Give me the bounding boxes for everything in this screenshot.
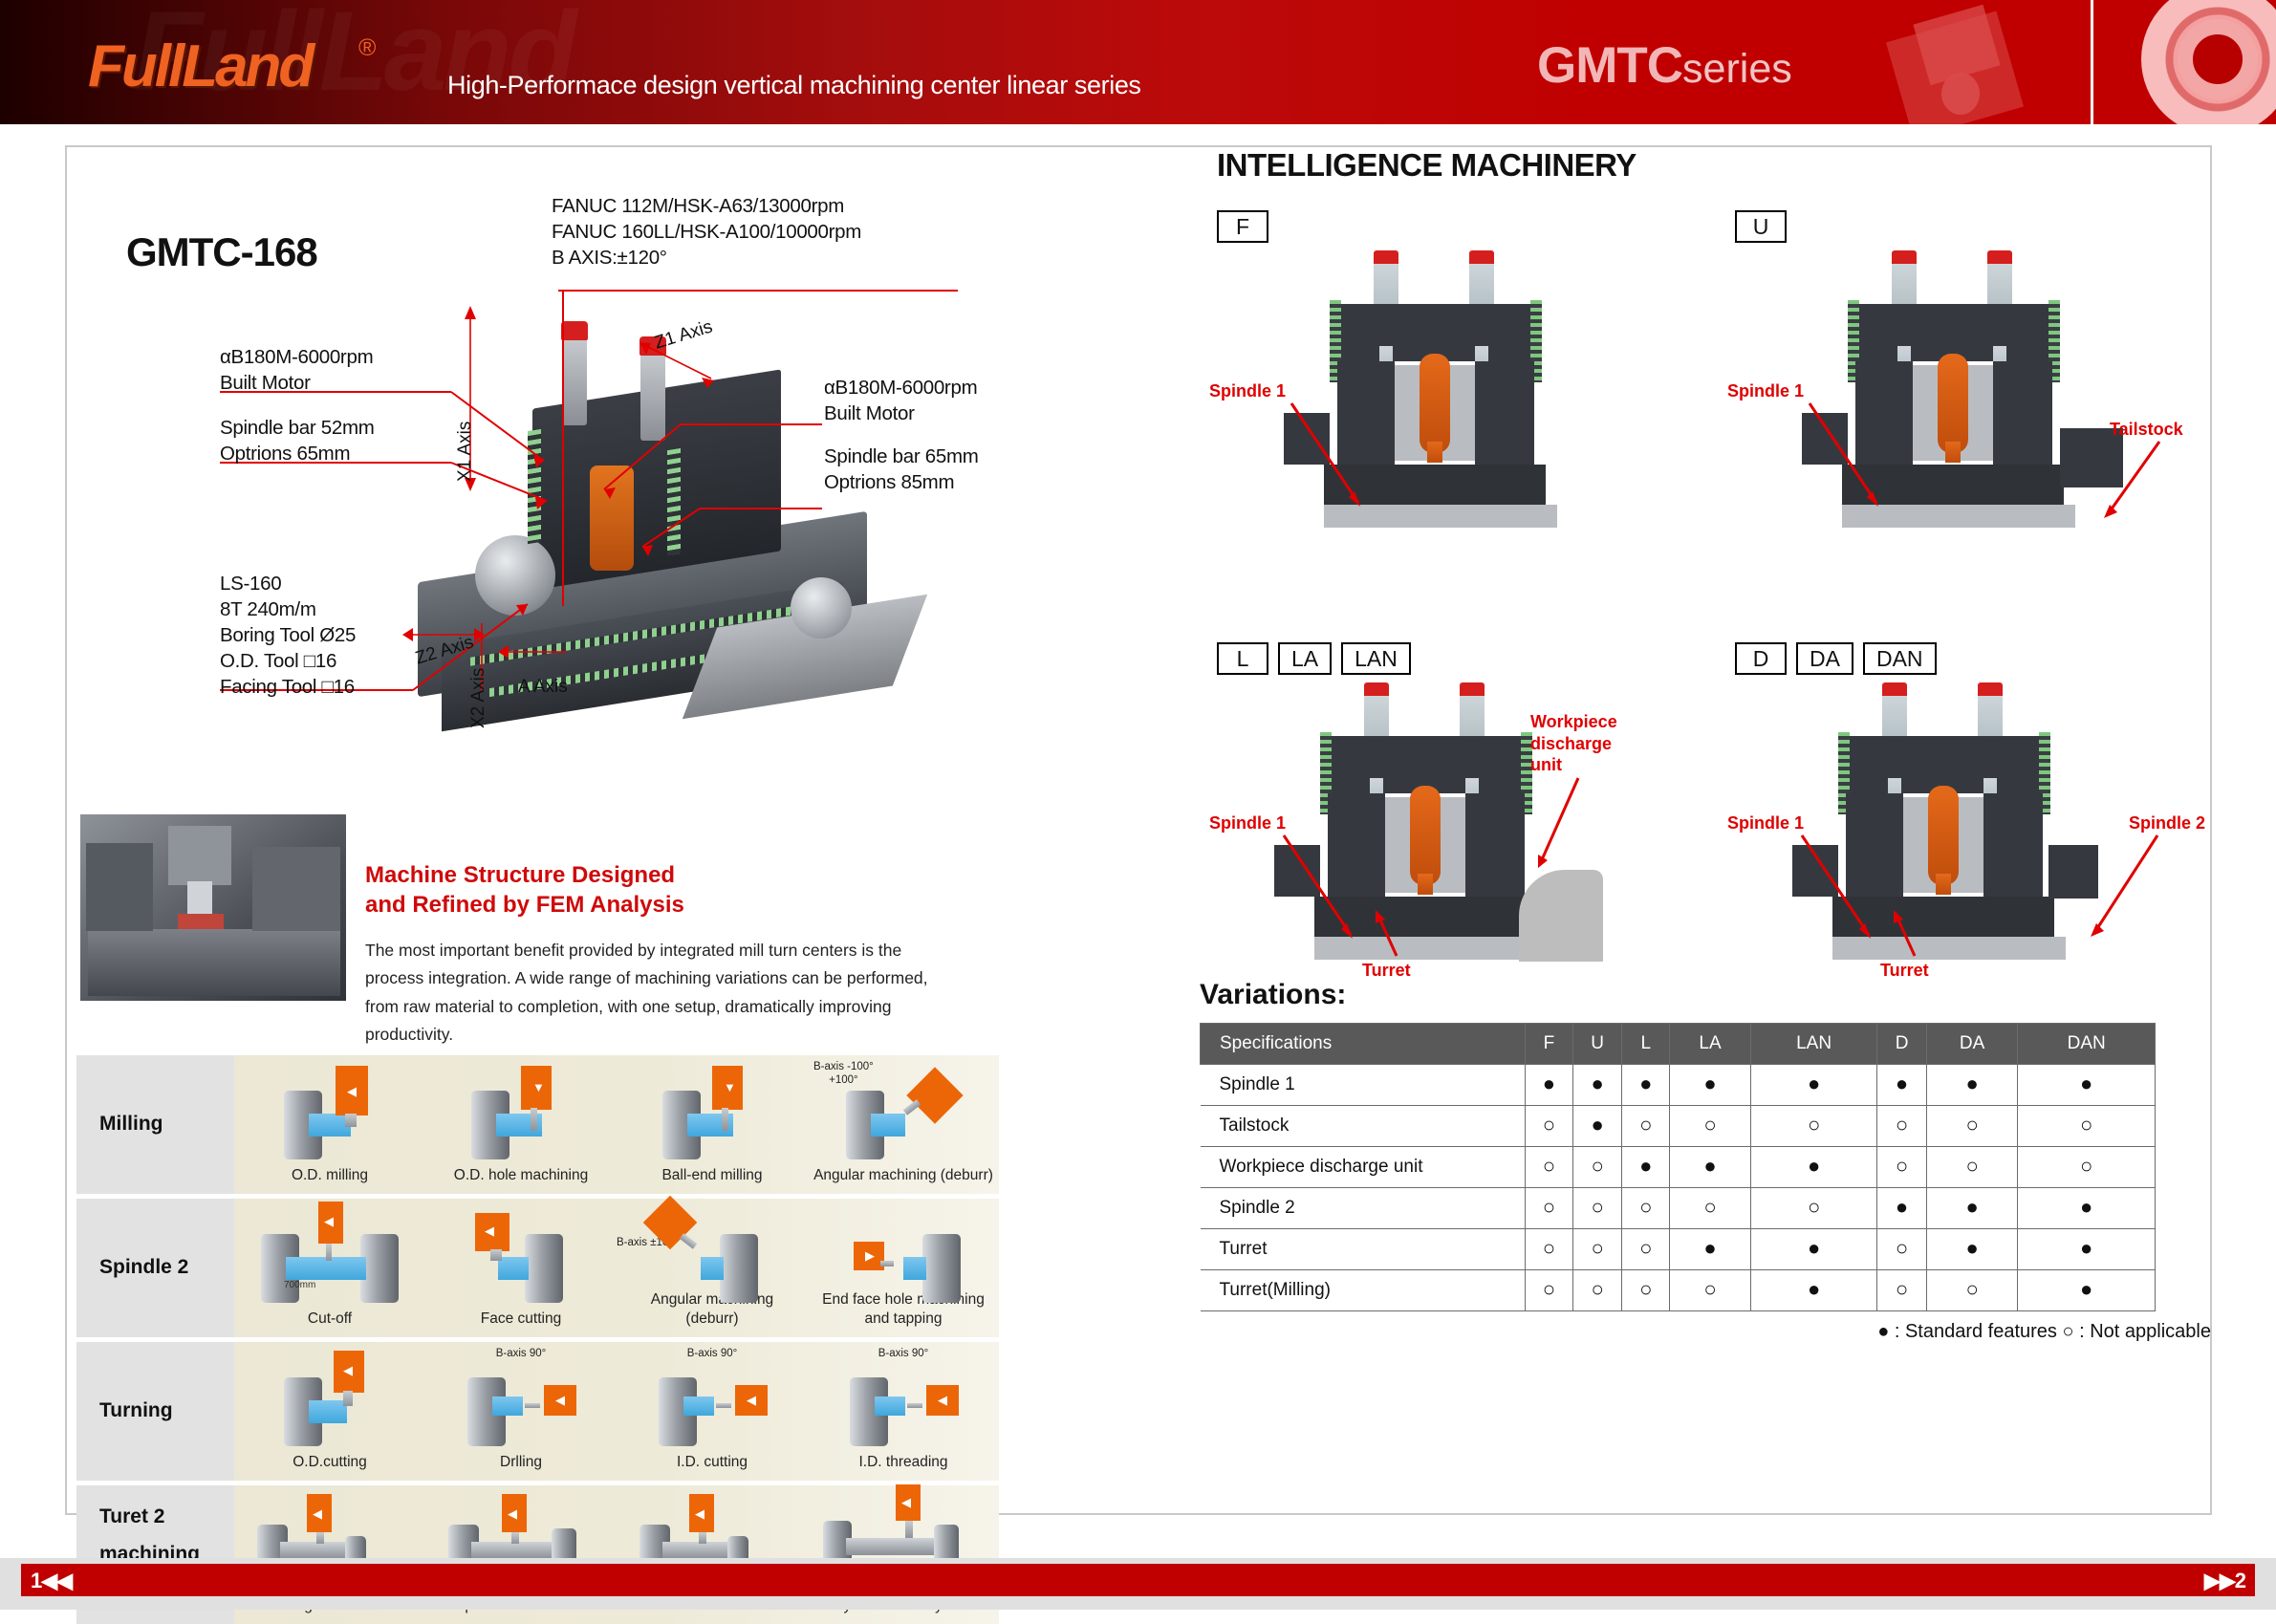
column-header-d: D	[1877, 1024, 1926, 1065]
ops-cell-caption: Ball-end milling	[661, 1166, 762, 1185]
config-label-spindle1: Spindle 1	[1727, 812, 1804, 834]
page-title: GMTC-168	[126, 229, 317, 275]
variations-table: Specifications F U L LA LAN D DA DAN Spi…	[1200, 1023, 2156, 1311]
cell-not-applicable: ○	[1877, 1147, 1926, 1188]
config-tag[interactable]: D	[1735, 642, 1787, 675]
cell-not-applicable: ○	[1877, 1106, 1926, 1147]
ops-cell: B-axis 90° ◀ Drlling	[425, 1342, 617, 1481]
cell-standard-feature: ●	[2018, 1229, 2156, 1270]
ops-cell: B-axis 90° ◀ I.D. threading	[808, 1342, 999, 1481]
config-label-spindle1: Spindle 1	[1209, 380, 1286, 402]
cell-standard-feature: ●	[2018, 1065, 2156, 1106]
cell-standard-feature: ●	[1750, 1147, 1877, 1188]
table-row: Spindle 1●●●●●●●●	[1201, 1065, 2156, 1106]
page-number-next[interactable]: ▶▶2	[2204, 1569, 2245, 1593]
ops-cell-caption: Drlling	[500, 1453, 542, 1472]
open-dot-icon: ○	[1591, 1236, 1603, 1260]
ops-cell-caption: Cut-off	[308, 1310, 352, 1329]
open-dot-icon: ○	[2080, 1154, 2092, 1178]
open-dot-icon: ○	[1896, 1277, 1908, 1301]
ops-row-turning: Turning ◀ O.D.cutting	[76, 1337, 999, 1481]
prev-arrows-icon: ◀◀	[41, 1569, 72, 1592]
table-row: Spindle 2○○○○○●●●	[1201, 1188, 2156, 1229]
ops-row-label: Milling	[76, 1055, 234, 1194]
column-header-u: U	[1572, 1024, 1621, 1065]
next-arrows-icon: ▶▶	[2204, 1569, 2235, 1592]
open-dot-icon: ○	[1896, 1113, 1908, 1137]
column-header-f: F	[1526, 1024, 1573, 1065]
ops-illustration-id-threading: ◀	[808, 1364, 999, 1448]
ops-cell-note: B-axis 90°	[496, 1348, 547, 1361]
cell-not-applicable: ○	[1670, 1270, 1751, 1311]
filled-dot-icon: ●	[1703, 1154, 1716, 1178]
config-tags-u: U	[1735, 210, 1787, 243]
cell-not-applicable: ○	[1572, 1147, 1621, 1188]
open-dot-icon: ○	[1703, 1277, 1716, 1301]
cell-standard-feature: ●	[1572, 1065, 1621, 1106]
cell-standard-feature: ●	[1526, 1065, 1573, 1106]
page-number-prev[interactable]: 1◀◀	[31, 1569, 72, 1593]
ops-illustration-angular-deburr	[617, 1221, 808, 1305]
table-header-row: Specifications F U L LA LAN D DA DAN	[1201, 1024, 2156, 1065]
cell-standard-feature: ●	[1926, 1065, 2018, 1106]
axis-label-a: A Axis	[518, 677, 568, 698]
machine-interior-photo	[80, 814, 346, 1001]
table-row: Workpiece discharge unit○○●●●○○○	[1201, 1147, 2156, 1188]
header-machined-part-image	[1888, 0, 2089, 124]
column-header-lan: LAN	[1750, 1024, 1877, 1065]
cell-not-applicable: ○	[1622, 1188, 1670, 1229]
filled-dot-icon: ●	[2080, 1072, 2092, 1095]
registered-trademark-icon: ®	[358, 34, 376, 62]
open-dot-icon: ○	[1639, 1113, 1652, 1137]
right-column: INTELLIGENCE MACHINERY F	[1200, 145, 2213, 1515]
config-diagram-l: Spindle 1 Workpiece discharge unit Turre…	[1209, 682, 1687, 969]
fem-heading: Machine Structure Designed and Refined b…	[365, 860, 684, 920]
row-spec-label: Turret(Milling)	[1201, 1270, 1526, 1311]
cell-not-applicable: ○	[1526, 1147, 1573, 1188]
filled-dot-icon: ●	[2080, 1236, 2092, 1260]
config-diagram-d: Spindle 1 Spindle 2 Turret	[1727, 682, 2205, 969]
cell-not-applicable: ○	[1622, 1270, 1670, 1311]
open-dot-icon: ○	[1543, 1195, 1555, 1219]
cell-not-applicable: ○	[1926, 1147, 2018, 1188]
cell-not-applicable: ○	[1877, 1229, 1926, 1270]
ops-row-spindle2: Spindle 2 ◀ 700mm Cut-off	[76, 1194, 999, 1337]
config-tag[interactable]: LAN	[1341, 642, 1411, 675]
config-label-tailstock: Tailstock	[2110, 419, 2183, 441]
row-spec-label: Spindle 2	[1201, 1188, 1526, 1229]
ops-cell-caption: Angular machining (deburr)	[813, 1166, 993, 1185]
ops-cell: ▼ Ball-end milling	[617, 1055, 808, 1194]
cell-standard-feature: ●	[2018, 1188, 2156, 1229]
open-dot-icon: ○	[1639, 1277, 1652, 1301]
company-logo: FullLand	[88, 32, 312, 100]
filled-dot-icon: ●	[1808, 1154, 1820, 1178]
machining-operations-table: Milling ◀ O.D. milling	[76, 1050, 999, 1624]
cell-not-applicable: ○	[1750, 1106, 1877, 1147]
column-header-dan: DAN	[2018, 1024, 2156, 1065]
callout-right-built-motor: αB180M-6000rpm Built Motor	[824, 375, 977, 426]
filled-dot-icon: ●	[1808, 1277, 1820, 1301]
config-tag[interactable]: F	[1217, 210, 1268, 243]
ops-cell: ◀ O.D. milling	[234, 1055, 425, 1194]
cell-standard-feature: ●	[1926, 1229, 2018, 1270]
config-tag[interactable]: DA	[1796, 642, 1853, 675]
ops-cell: ◀ 700mm Cut-off	[234, 1199, 425, 1337]
page-body: GMTC-168 FANUC 112M/HSK-A63/13000rpm FAN…	[0, 124, 2276, 1558]
ops-cell-note: B-axis 90°	[687, 1348, 738, 1361]
cell-not-applicable: ○	[1572, 1229, 1621, 1270]
ops-illustration-od-milling: ◀	[234, 1077, 425, 1161]
cell-not-applicable: ○	[1926, 1270, 2018, 1311]
open-dot-icon: ○	[2080, 1113, 2092, 1137]
cell-standard-feature: ●	[1750, 1229, 1877, 1270]
cell-not-applicable: ○	[1526, 1270, 1573, 1311]
ops-row-label: Turning	[76, 1342, 234, 1481]
cell-not-applicable: ○	[1926, 1106, 2018, 1147]
cell-not-applicable: ○	[1526, 1188, 1573, 1229]
row-spec-label: Spindle 1	[1201, 1065, 1526, 1106]
filled-dot-icon: ●	[2080, 1277, 2092, 1301]
ops-illustration-cut-off: ◀ 700mm	[234, 1221, 425, 1305]
ops-illustration-od-cutting: ◀	[234, 1364, 425, 1448]
filled-dot-icon: ●	[1965, 1195, 1978, 1219]
table-row: Turret(Milling)○○○○●○○●	[1201, 1270, 2156, 1311]
table-row: Tailstock○●○○○○○○	[1201, 1106, 2156, 1147]
cell-standard-feature: ●	[1750, 1270, 1877, 1311]
cell-not-applicable: ○	[1670, 1188, 1751, 1229]
open-dot-icon: ○	[1543, 1113, 1555, 1137]
open-dot-icon: ○	[1639, 1195, 1652, 1219]
ops-illustration-od-hole-machining: ▼	[425, 1077, 617, 1161]
ops-row-milling: Milling ◀ O.D. milling	[76, 1050, 999, 1194]
ops-illustration-ball-end-milling: ▼	[617, 1077, 808, 1161]
axis-label-x2: X2 Axis	[468, 668, 489, 728]
header-impeller-hub	[2178, 19, 2258, 99]
ops-cell: B-axis -100° +100° Angular machining (de…	[808, 1055, 999, 1194]
ops-cell: ◀ O.D.cutting	[234, 1342, 425, 1481]
header-tagline: High-Performace design vertical machinin…	[447, 71, 1141, 100]
open-dot-icon: ○	[1703, 1113, 1716, 1137]
ops-illustration-angular-machining	[808, 1077, 999, 1161]
cell-standard-feature: ●	[1572, 1106, 1621, 1147]
cell-not-applicable: ○	[2018, 1106, 2156, 1147]
config-tags-d: D DA DAN	[1735, 642, 1937, 675]
filled-dot-icon: ●	[1703, 1072, 1716, 1095]
config-tag[interactable]: LA	[1278, 642, 1332, 675]
config-label-turret: Turret	[1362, 960, 1411, 982]
open-dot-icon: ○	[1703, 1195, 1716, 1219]
cell-standard-feature: ●	[1877, 1065, 1926, 1106]
series-badge: GMTCseries	[1537, 36, 1792, 95]
cell-not-applicable: ○	[1526, 1106, 1573, 1147]
ops-cell-note: B-axis 90°	[878, 1348, 929, 1361]
filled-dot-icon: ●	[1703, 1236, 1716, 1260]
variations-title: Variations:	[1200, 979, 1346, 1011]
open-dot-icon: ○	[1543, 1236, 1555, 1260]
filled-dot-icon: ●	[1965, 1072, 1978, 1095]
page-number-right-label: 2	[2235, 1569, 2245, 1592]
cell-not-applicable: ○	[1670, 1106, 1751, 1147]
cell-standard-feature: ●	[2018, 1270, 2156, 1311]
open-dot-icon: ○	[1543, 1154, 1555, 1178]
filled-dot-icon: ●	[1591, 1113, 1603, 1137]
footer-bar	[21, 1564, 2255, 1596]
config-diagram-u: Spindle 1 Tailstock	[1727, 250, 2205, 537]
open-dot-icon: ○	[1808, 1195, 1820, 1219]
cell-not-applicable: ○	[1572, 1270, 1621, 1311]
cell-standard-feature: ●	[1670, 1065, 1751, 1106]
filled-dot-icon: ●	[1896, 1072, 1908, 1095]
config-tag[interactable]: U	[1735, 210, 1787, 243]
ops-cell: B-axis 90° ◀ I.D. cutting	[617, 1342, 808, 1481]
header-divider	[2091, 0, 2093, 124]
spec-callout-top: FANUC 112M/HSK-A63/13000rpm FANUC 160LL/…	[552, 193, 861, 271]
config-tags-f: F	[1217, 210, 1268, 243]
open-dot-icon: ○	[1965, 1113, 1978, 1137]
cell-standard-feature: ●	[1877, 1188, 1926, 1229]
ops-cell-caption: I.D. cutting	[677, 1453, 748, 1472]
filled-dot-icon: ●	[1808, 1236, 1820, 1260]
open-dot-icon: ○	[1965, 1277, 1978, 1301]
series-suffix: series	[1682, 46, 1792, 92]
ops-cell-caption: O.D. milling	[292, 1166, 368, 1185]
callout-right-spindle-bar: Spindle bar 65mm Optrions 85mm	[824, 444, 979, 495]
cell-standard-feature: ●	[1622, 1147, 1670, 1188]
row-spec-label: Tailstock	[1201, 1106, 1526, 1147]
ops-cell-caption: O.D.cutting	[293, 1453, 367, 1472]
open-dot-icon: ○	[1591, 1154, 1603, 1178]
filled-dot-icon: ●	[2080, 1195, 2092, 1219]
config-label-spindle1: Spindle 1	[1727, 380, 1804, 402]
section-title-intelligence-machinery: INTELLIGENCE MACHINERY	[1217, 147, 1637, 184]
filled-dot-icon: ●	[1808, 1072, 1820, 1095]
column-header-specifications: Specifications	[1201, 1024, 1526, 1065]
config-label-spindle1: Spindle 1	[1209, 812, 1286, 834]
ops-cell: ◀ Face cutting	[425, 1199, 617, 1337]
column-header-da: DA	[1926, 1024, 2018, 1065]
open-dot-icon: ○	[1896, 1154, 1908, 1178]
column-header-l: L	[1622, 1024, 1670, 1065]
page-footer: 1◀◀ ▶▶2	[0, 1558, 2276, 1610]
filled-dot-icon: ●	[1896, 1195, 1908, 1219]
open-dot-icon: ○	[1591, 1277, 1603, 1301]
config-label-turret: Turret	[1880, 960, 1929, 982]
config-tag[interactable]: DAN	[1863, 642, 1937, 675]
open-dot-icon: ○	[1896, 1236, 1908, 1260]
axis-label-x1: X1 Axis	[455, 422, 476, 482]
ops-cell: ▼ O.D. hole machining	[425, 1055, 617, 1194]
callout-left-spindle-bar: Spindle bar 52mm Optrions 65mm	[220, 415, 375, 466]
fem-description: The most important benefit provided by i…	[365, 937, 939, 1050]
table-legend: ● : Standard features ○ : Not applicable	[1877, 1321, 2211, 1343]
cell-standard-feature: ●	[1750, 1065, 1877, 1106]
ops-illustration-id-cutting: ◀	[617, 1364, 808, 1448]
callout-left-turret-tooling: LS-160 8T 240m/m Boring Tool Ø25 O.D. To…	[220, 571, 356, 700]
callout-left-built-motor: αB180M-6000rpm Built Motor	[220, 344, 373, 396]
filled-dot-icon: ●	[1639, 1154, 1652, 1178]
open-dot-icon: ○	[1591, 1195, 1603, 1219]
ops-illustration-end-face-hole: ▶	[808, 1221, 999, 1305]
ops-dimension-label: 700mm	[284, 1280, 315, 1290]
config-label-spindle2: Spindle 2	[2129, 812, 2205, 834]
open-dot-icon: ○	[1543, 1277, 1555, 1301]
ops-cell-caption: O.D. hole machining	[454, 1166, 588, 1185]
filled-dot-icon: ●	[1639, 1072, 1652, 1095]
ops-cell-caption: Face cutting	[481, 1310, 561, 1329]
series-name: GMTC	[1537, 37, 1682, 94]
column-header-la: LA	[1670, 1024, 1751, 1065]
cell-not-applicable: ○	[1526, 1229, 1573, 1270]
config-tag[interactable]: L	[1217, 642, 1268, 675]
page-number-left-label: 1	[31, 1569, 41, 1592]
open-dot-icon: ○	[1639, 1236, 1652, 1260]
cell-not-applicable: ○	[1572, 1188, 1621, 1229]
filled-dot-icon: ●	[1591, 1072, 1603, 1095]
cell-not-applicable: ○	[1877, 1270, 1926, 1311]
filled-dot-icon: ●	[1543, 1072, 1555, 1095]
row-spec-label: Workpiece discharge unit	[1201, 1147, 1526, 1188]
ops-row-label: Spindle 2	[76, 1199, 234, 1337]
cell-not-applicable: ○	[2018, 1147, 2156, 1188]
table-row: Turret○○○●●○●●	[1201, 1229, 2156, 1270]
row-spec-label: Turret	[1201, 1229, 1526, 1270]
cell-standard-feature: ●	[1670, 1229, 1751, 1270]
cell-standard-feature: ●	[1926, 1188, 2018, 1229]
cell-not-applicable: ○	[1750, 1188, 1877, 1229]
config-tags-l: L LA LAN	[1217, 642, 1411, 675]
cell-not-applicable: ○	[1622, 1106, 1670, 1147]
ops-illustration-drilling: ◀	[425, 1364, 617, 1448]
ops-cell-caption: I.D. threading	[858, 1453, 947, 1472]
config-diagram-f: Spindle 1	[1209, 250, 1668, 537]
ops-illustration-face-cutting: ◀	[425, 1221, 617, 1305]
variations-table-body: Spindle 1●●●●●●●●Tailstock○●○○○○○○Workpi…	[1201, 1065, 2156, 1311]
cell-standard-feature: ●	[1622, 1065, 1670, 1106]
page-header: FullLand FullLand ® High-Performace desi…	[0, 0, 2276, 124]
config-label-workpiece-discharge-unit: Workpiece discharge unit	[1530, 711, 1617, 776]
open-dot-icon: ○	[1965, 1154, 1978, 1178]
ops-cell: ▶ End face hole machining and tapping	[808, 1199, 999, 1337]
filled-dot-icon: ●	[1965, 1236, 1978, 1260]
left-column: GMTC-168 FANUC 112M/HSK-A63/13000rpm FAN…	[69, 145, 1135, 1515]
cell-not-applicable: ○	[1622, 1229, 1670, 1270]
open-dot-icon: ○	[1808, 1113, 1820, 1137]
cell-standard-feature: ●	[1670, 1147, 1751, 1188]
ops-cell: B-axis ±100° Angular machining (deburr)	[617, 1199, 808, 1337]
